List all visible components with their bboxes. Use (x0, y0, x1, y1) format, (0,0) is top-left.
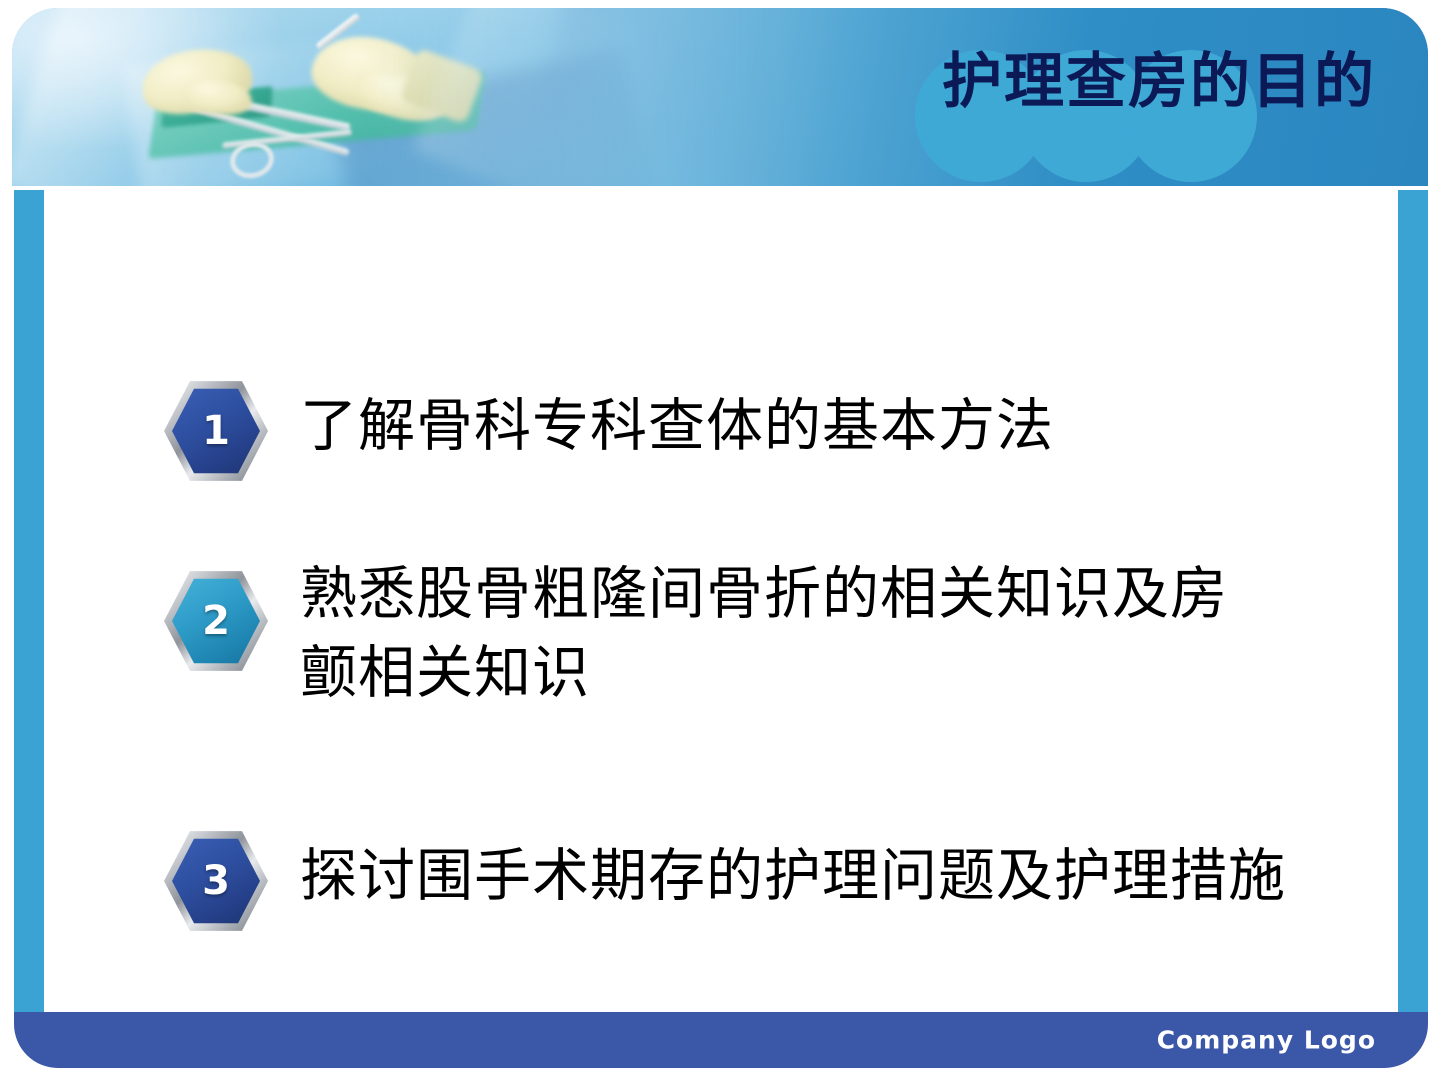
right-accent-strip (1398, 190, 1428, 1012)
objective-text-2: 熟悉股骨粗隆间骨折的相关知识及房 颤相关知识 (300, 555, 1228, 712)
objective-item-1: 1 了解骨科专科查体的基本方法 (164, 375, 1054, 483)
objective-item-3: 3 探讨围手术期存的护理问题及护理措施 (164, 825, 1286, 933)
page-title: 护理查房的目的 (942, 52, 1376, 112)
slide-footer: Company Logo (14, 1012, 1428, 1068)
slide-header: 护理查房的目的 (12, 8, 1428, 186)
hexagon-number-3: 3 (164, 829, 268, 933)
company-logo-text: Company Logo (1157, 1026, 1376, 1055)
objective-text-3: 探讨围手术期存的护理问题及护理措施 (300, 837, 1286, 916)
hexagon-number-1: 1 (164, 379, 268, 483)
hexagon-badge-2: 2 (164, 569, 268, 673)
slide: 护理查房的目的 1 了解骨科专科查体的基本方法 2 熟悉股骨粗隆间骨折的相关知识… (0, 0, 1440, 1080)
hexagon-number-2: 2 (164, 569, 268, 673)
objective-text-1: 了解骨科专科查体的基本方法 (300, 387, 1054, 466)
hexagon-badge-1: 1 (164, 379, 268, 483)
left-accent-strip (14, 190, 44, 1012)
objective-item-2: 2 熟悉股骨粗隆间骨折的相关知识及房 颤相关知识 (164, 565, 1228, 712)
hexagon-badge-3: 3 (164, 829, 268, 933)
slide-content: 1 了解骨科专科查体的基本方法 2 熟悉股骨粗隆间骨折的相关知识及房 颤相关知识… (44, 190, 1398, 1012)
surgery-photo (12, 8, 792, 186)
